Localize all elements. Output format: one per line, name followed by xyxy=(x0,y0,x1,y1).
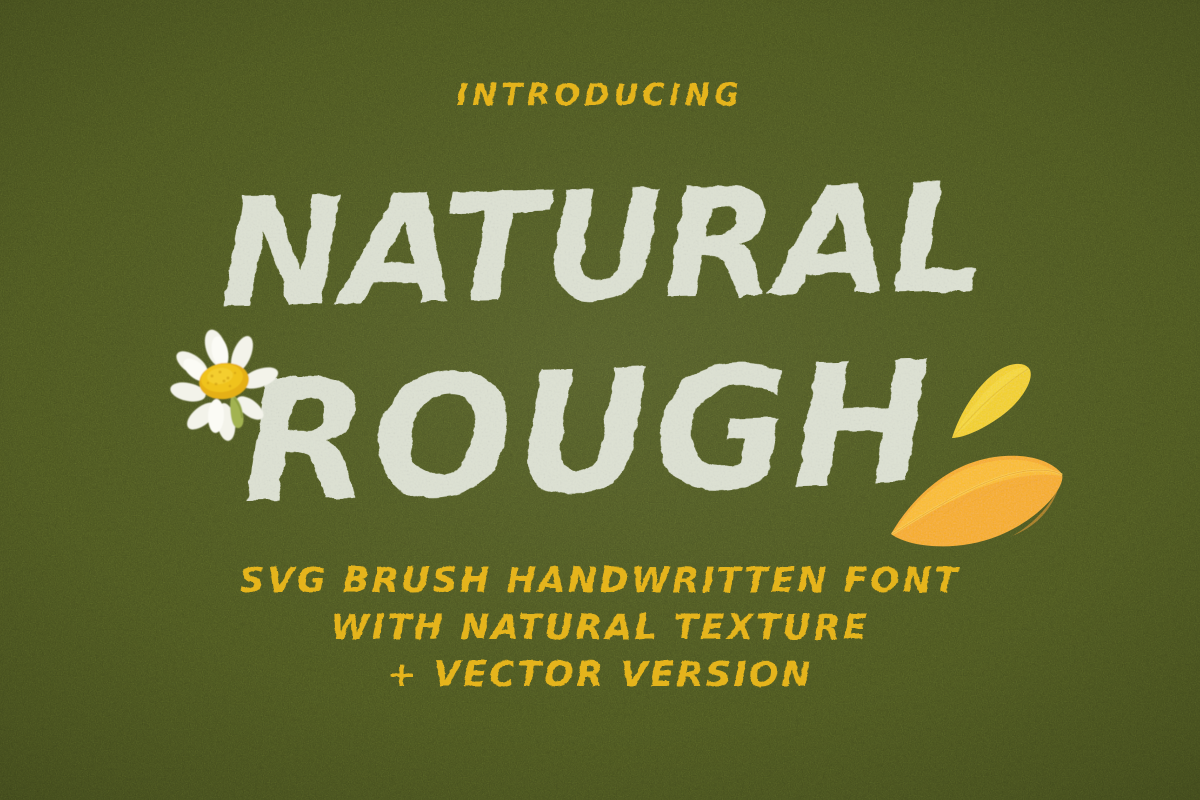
svg-text:SVG BRUSH HANDWRITTEN FONT: SVG BRUSH HANDWRITTEN FONT xyxy=(239,561,961,601)
small-yellow-leaf-icon xyxy=(948,358,1034,442)
svg-text:NATURAL: NATURAL xyxy=(217,152,985,342)
font-promo-poster: INTRODUCING INTRODUCING NATURAL ROUGH NA… xyxy=(0,0,1200,800)
svg-text:ROUGH: ROUGH xyxy=(239,325,936,540)
svg-text:WITH NATURAL TEXTURE: WITH NATURAL TEXTURE xyxy=(331,608,870,648)
subtitle-svg: SVG BRUSH HANDWRITTEN FONT WITH NATURAL … xyxy=(0,560,1200,710)
daisy-flower-icon xyxy=(168,326,280,448)
svg-text:INTRODUCING: INTRODUCING xyxy=(456,78,743,113)
eyebrow-svg: INTRODUCING xyxy=(0,72,1200,118)
svg-text:+ VECTOR VERSION: + VECTOR VERSION xyxy=(387,655,813,695)
headline-line1-svg: NATURAL xyxy=(0,170,1200,335)
eyebrow-text-container: INTRODUCING INTRODUCING xyxy=(0,72,1200,118)
large-yellow-leaf-icon xyxy=(888,448,1066,552)
subtitle-container: SVG BRUSH HANDWRITTEN FONT WITH NATURAL … xyxy=(0,560,1200,710)
